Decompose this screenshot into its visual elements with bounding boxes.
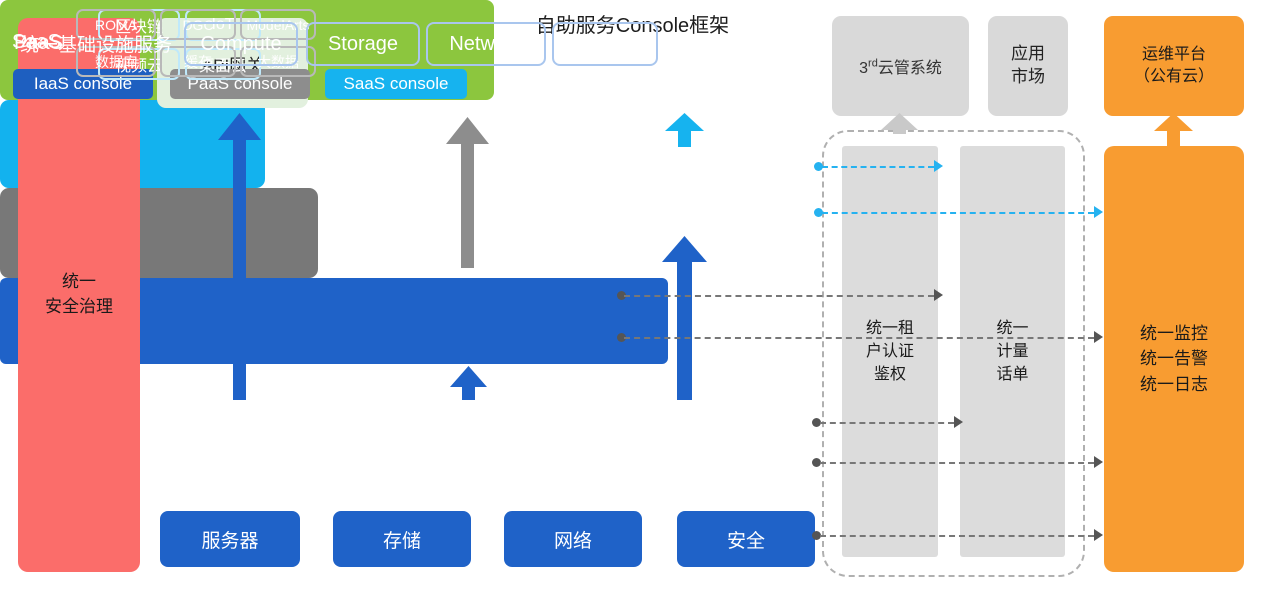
arrowhead-saas-to-ops xyxy=(1094,206,1103,218)
arrow-saas-to-saas-console xyxy=(665,113,704,147)
arrowhead-infra-to-ops xyxy=(1094,456,1103,468)
arrow-infra-to-saas xyxy=(662,236,707,400)
ops-platform-services-panel: 统一监控统一告警统一日志 xyxy=(1104,146,1244,572)
ops-platform-label: 运维平台（公有云） xyxy=(1134,44,1214,87)
dashed-line-paas-to-auth xyxy=(624,295,934,297)
infra-item-network[interactable]: Network xyxy=(426,22,546,66)
security-governance-panel: 统一安全治理 xyxy=(18,18,140,572)
arrow-ops-body-to-ops-platform xyxy=(1154,113,1193,146)
dashed-line-infra-to-ops xyxy=(820,462,1094,464)
infra-item-compute[interactable]: Compute xyxy=(184,22,298,66)
arrowhead-paas-to-auth xyxy=(934,289,943,301)
ops-platform-services-label: 统一监控统一告警统一日志 xyxy=(1140,321,1208,398)
app-market-label: 应用市场 xyxy=(1011,43,1045,89)
infra-item-cce[interactable]: CCE xyxy=(552,22,658,66)
app-market-box: 应用市场 xyxy=(988,16,1068,116)
security-governance-label: 统一安全治理 xyxy=(45,270,113,319)
resource-network-box[interactable]: 网络 xyxy=(504,511,642,567)
third-party-cloud-mgmt-label: 3rd云管系统 xyxy=(859,54,942,78)
architecture-diagram: 统一安全治理 API网关 自助服务Console框架 IaaS console … xyxy=(0,0,1265,605)
arrowhead-infra-to-auth xyxy=(954,416,963,428)
third-party-cloud-mgmt-box: 3rd云管系统 xyxy=(832,16,969,116)
infra-item-storage[interactable]: Storage xyxy=(306,22,420,66)
dashed-line-paas-to-ops xyxy=(624,337,1094,339)
resource-server-box[interactable]: 服务器 xyxy=(160,511,300,567)
arrowhead-saas-to-auth xyxy=(934,160,943,172)
unified-tenant-auth-column: 统一租户认证鉴权 xyxy=(842,146,938,557)
dashed-line-saas-to-auth xyxy=(822,166,934,168)
unified-metering-column: 统一计量话单 xyxy=(960,146,1065,557)
resource-storage-box[interactable]: 存储 xyxy=(333,511,471,567)
dashed-line-resource-to-ops xyxy=(820,535,1094,537)
arrow-infra-to-paas xyxy=(450,366,487,400)
arrowhead-resource-to-ops xyxy=(1094,529,1103,541)
saas-console-button[interactable]: SaaS console xyxy=(325,69,467,99)
ops-platform-box: 运维平台（公有云） xyxy=(1104,16,1244,116)
infrastructure-label: 统一基础设施服务 xyxy=(20,30,172,57)
unified-tenant-auth-label: 统一租户认证鉴权 xyxy=(866,317,914,387)
arrow-paas-to-console xyxy=(446,117,489,268)
arrowhead-paas-to-ops xyxy=(1094,331,1103,343)
resource-security-box[interactable]: 安全 xyxy=(677,511,815,567)
unified-metering-label: 统一计量话单 xyxy=(996,317,1028,387)
dashed-line-infra-to-auth xyxy=(820,422,954,424)
dashed-line-saas-to-ops xyxy=(822,212,1094,214)
